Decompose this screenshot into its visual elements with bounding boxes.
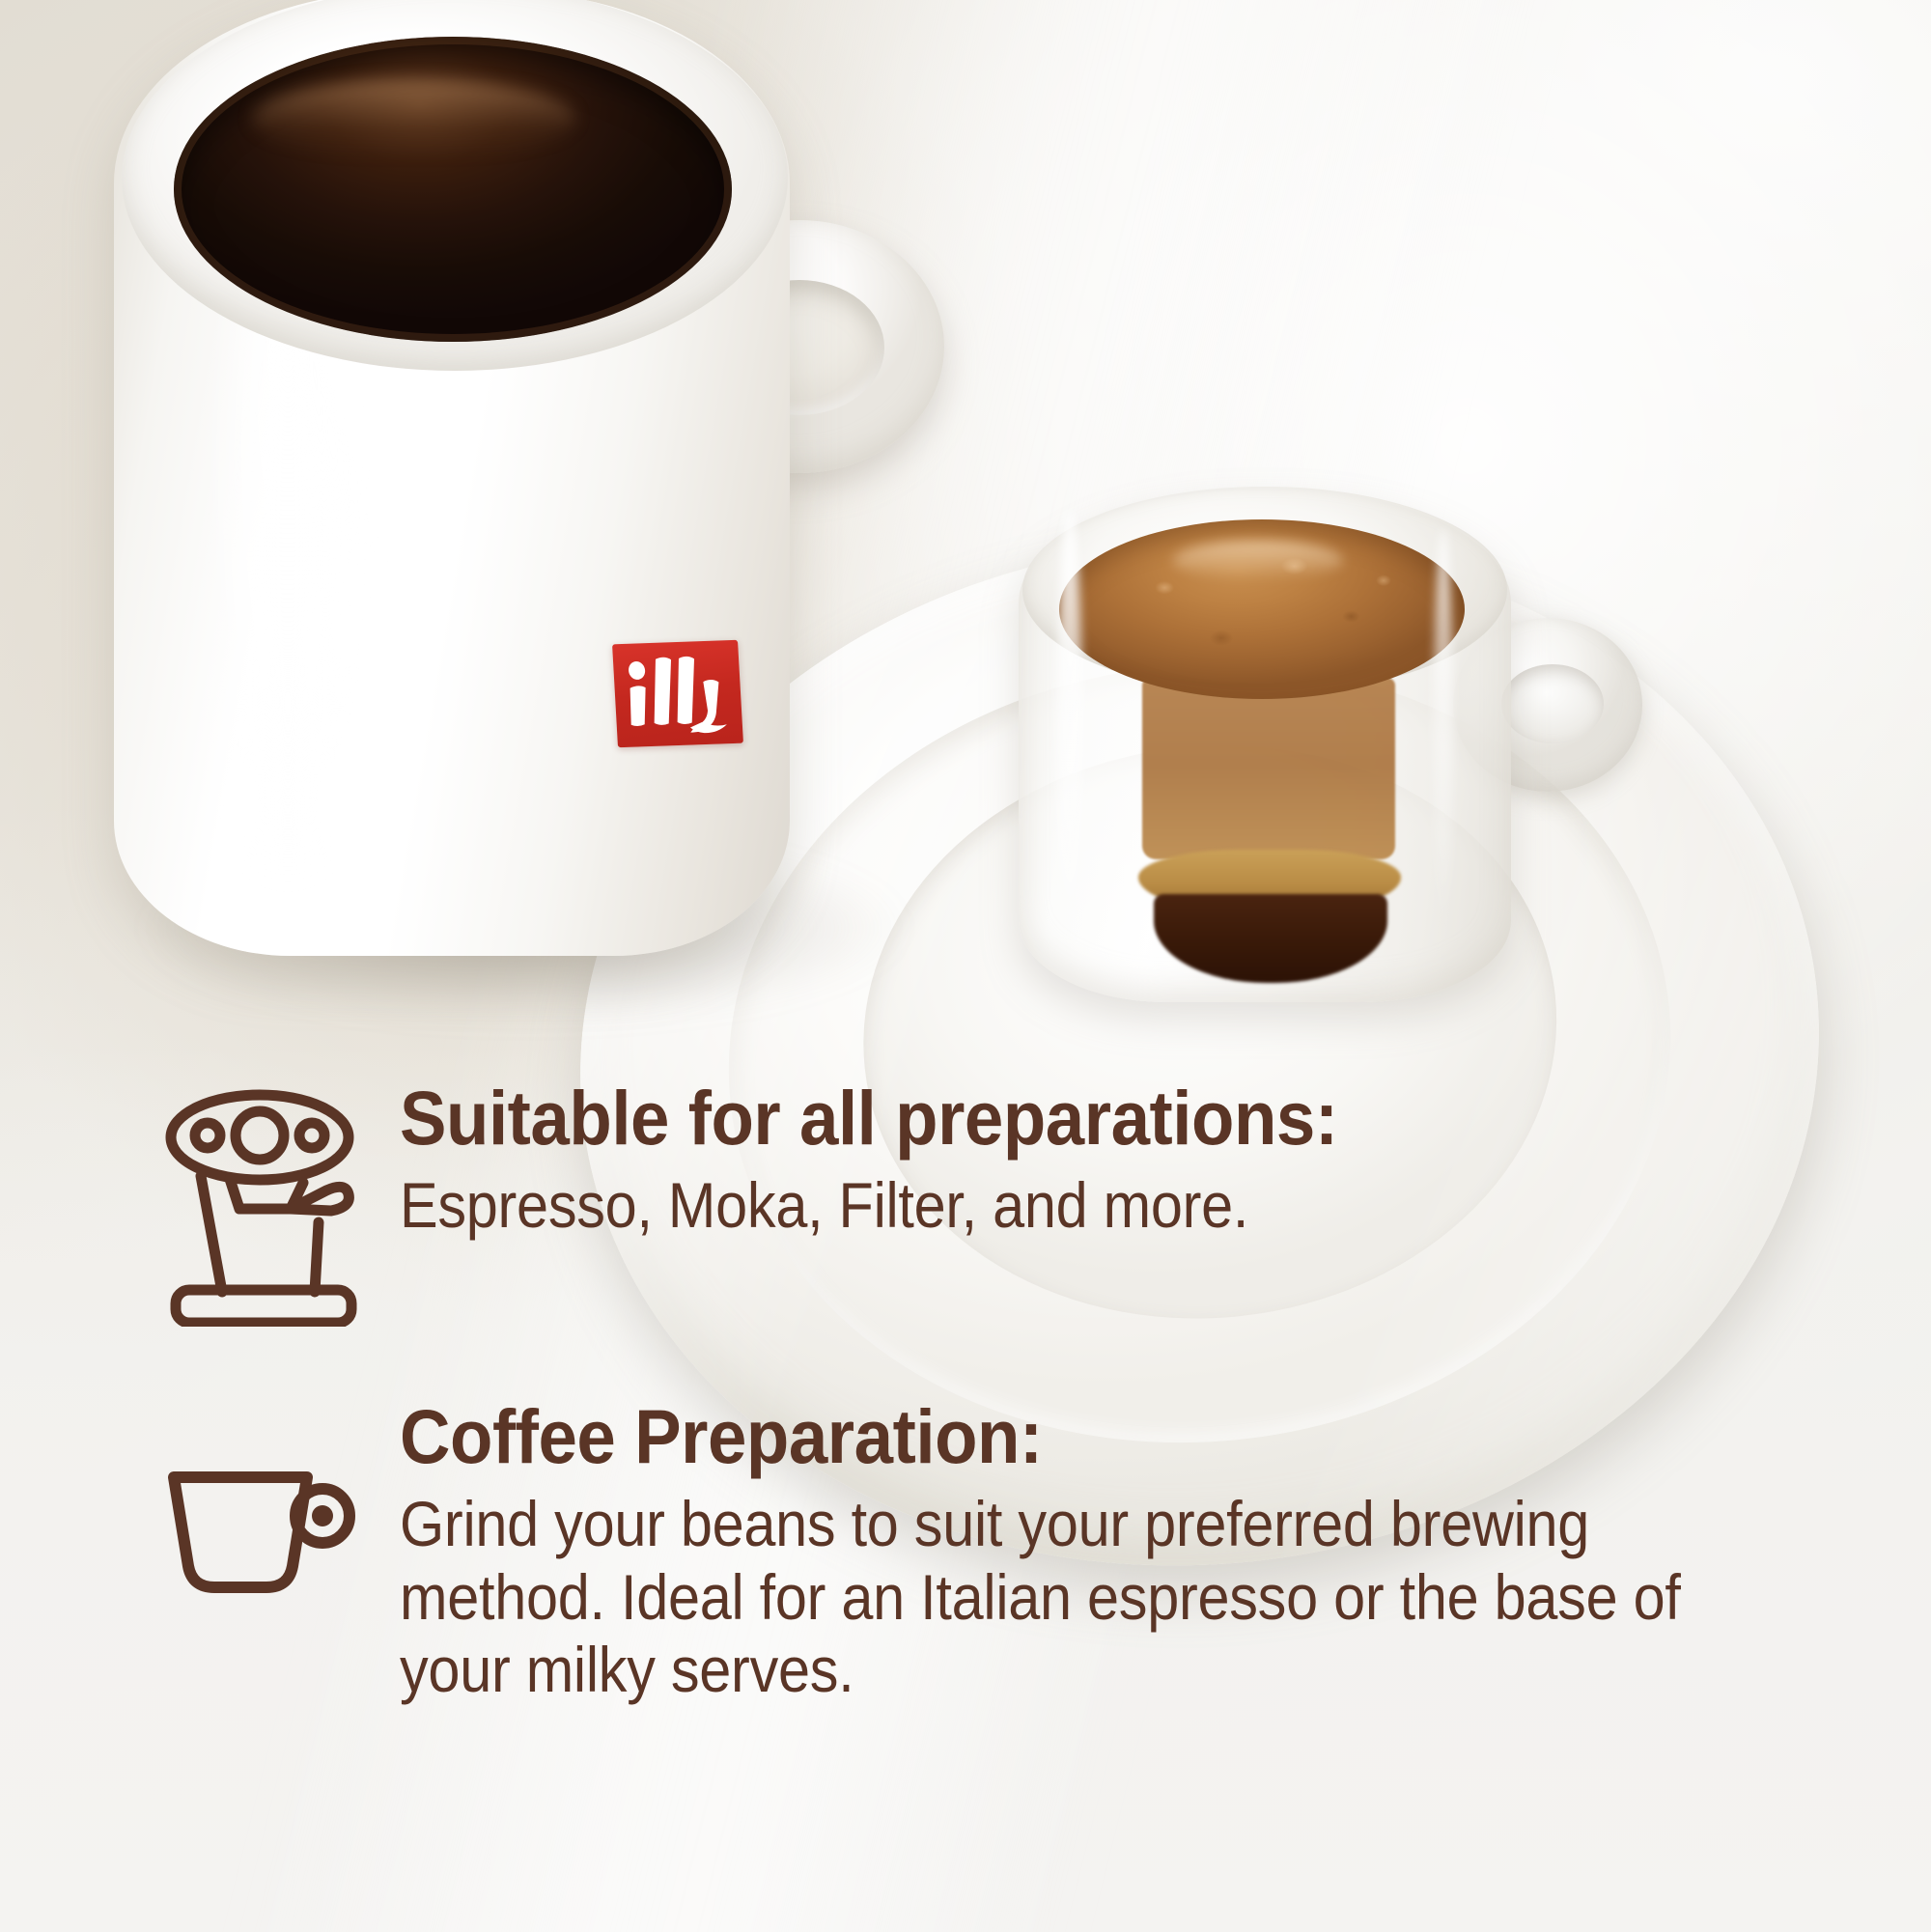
feature-title: Suitable for all preparations:: [400, 1079, 1808, 1156]
espresso-liquid-body: [1142, 678, 1395, 859]
product-feature-card: Suitable for all preparations: Espresso,…: [0, 0, 1931, 1932]
coffee-surface-sheen: [252, 79, 575, 158]
feature-item-preparations: Suitable for all preparations: Espresso,…: [0, 1079, 1931, 1327]
feature-text-preparations: Suitable for all preparations: Espresso,…: [384, 1079, 1931, 1243]
feature-title: Coffee Preparation:: [400, 1398, 1808, 1474]
feature-text-coffee-preparation: Coffee Preparation: Grind your beans to …: [384, 1398, 1931, 1707]
glass-left-highlight: [1057, 510, 1082, 964]
feature-description: Espresso, Moka, Filter, and more.: [400, 1169, 1777, 1243]
feature-description: Grind your beans to suit your preferred …: [400, 1488, 1721, 1707]
illy-logo: [612, 640, 743, 747]
feature-item-coffee-preparation: Coffee Preparation: Grind your beans to …: [0, 1398, 1931, 1707]
coffee-mug: [114, 0, 915, 1014]
glass-right-highlight: [1434, 529, 1453, 935]
feature-list: Suitable for all preparations: Espresso,…: [0, 1079, 1931, 1707]
espresso-machine-icon: [162, 1079, 384, 1327]
espresso-glass-cup: [1019, 490, 1637, 1031]
glass-handle-opening: [1501, 664, 1604, 743]
black-coffee-surface: [174, 37, 732, 342]
crema-highlight: [1173, 541, 1343, 580]
coffee-cup-icon: [162, 1398, 384, 1655]
espresso-crema-surface: [1059, 519, 1465, 699]
